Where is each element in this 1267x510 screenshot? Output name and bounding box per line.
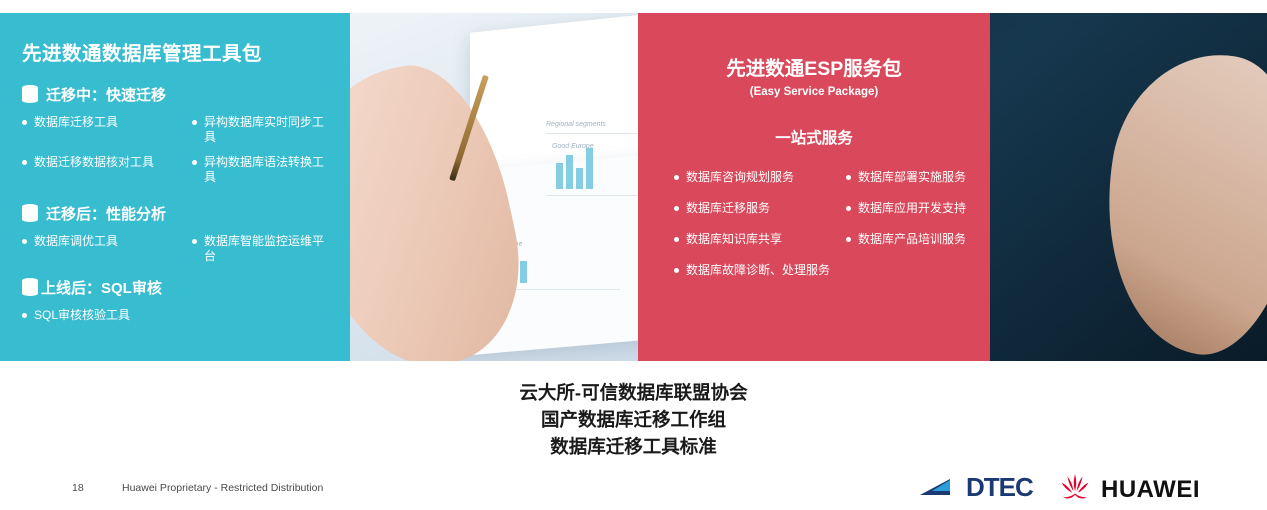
database-icon — [22, 278, 38, 297]
list-item-label: 数据库智能监控运维平台 — [204, 234, 334, 264]
bullet-dot-icon — [22, 120, 27, 125]
list-item: SQL审核核验工具 — [22, 308, 334, 323]
red-panel-title: 先进数通ESP服务包 — [656, 52, 972, 81]
dtec-logo-text: DTEC — [966, 472, 1033, 503]
list-item-label: 异构数据库实时同步工具 — [204, 115, 334, 145]
list-item-label: 数据库迁移工具 — [34, 115, 118, 130]
bullet-dot-icon — [846, 206, 851, 211]
list-item-label: 数据库知识库共享 — [686, 232, 782, 247]
caption-line-2: 国产数据库迁移工作组 — [0, 407, 1267, 434]
bullet-dot-icon — [674, 175, 679, 180]
left-section-2-bullets: 数据库调优工具 数据库智能监控运维平台 — [22, 234, 334, 264]
bullet-dot-icon — [192, 239, 197, 244]
list-item: 数据库智能监控运维平台 — [192, 234, 334, 264]
dtec-mark-icon — [920, 475, 964, 501]
bullet-dot-icon — [846, 237, 851, 242]
left-section-heading-3-label: 上线后：SQL审核 — [41, 277, 162, 298]
list-item: 数据库知识库共享 — [674, 232, 846, 247]
list-item-label: 异构数据库语法转换工具 — [204, 155, 334, 185]
bullet-dot-icon — [674, 237, 679, 242]
left-section-heading-3: 上线后：SQL审核 — [22, 277, 334, 298]
slide-caption: 云大所-可信数据库联盟协会 国产数据库迁移工作组 数据库迁移工具标准 — [0, 380, 1267, 460]
bullet-dot-icon — [674, 206, 679, 211]
left-section-heading-1: 迁移中：快速迁移 — [22, 84, 334, 105]
list-item: 数据库调优工具 — [22, 234, 192, 264]
bullet-dot-icon — [22, 160, 27, 165]
list-item: 数据库部署实施服务 — [846, 170, 972, 185]
slide-banner: 先进数通数据库管理工具包 迁移中：快速迁移 数据库迁移工具 异构数据库实时同步工… — [0, 13, 1267, 361]
chart-bar — [520, 261, 527, 283]
left-section-3-bullets: SQL审核核验工具 — [22, 308, 334, 323]
red-panel-subhead: 一站式服务 — [656, 126, 972, 148]
list-item-label: 数据库调优工具 — [34, 234, 118, 249]
left-teal-panel: 先进数通数据库管理工具包 迁移中：快速迁移 数据库迁移工具 异构数据库实时同步工… — [0, 13, 350, 361]
left-panel-title: 先进数通数据库管理工具包 — [22, 43, 334, 66]
list-item: 数据库产品培训服务 — [846, 232, 972, 247]
hand-shape — [1085, 40, 1267, 361]
list-item-label: 数据库应用开发支持 — [858, 201, 966, 216]
chart-bar — [566, 155, 573, 189]
list-item: 数据库应用开发支持 — [846, 201, 972, 216]
red-panel-subtitle: (Easy Service Package) — [656, 86, 972, 98]
list-item-label: 数据库产品培训服务 — [858, 232, 966, 247]
left-section-heading-2: 迁移后：性能分析 — [22, 203, 334, 224]
left-section-heading-1-label: 迁移中：快速迁移 — [46, 84, 166, 105]
dtec-logo: DTEC — [920, 472, 1033, 503]
list-item-label: 数据库迁移服务 — [686, 201, 770, 216]
list-item-label: 数据库故障诊断、处理服务 — [686, 263, 830, 278]
huawei-logo-text: HUAWEI — [1101, 476, 1200, 504]
bullet-dot-icon — [674, 268, 679, 273]
chart-bar — [586, 148, 593, 189]
red-panel-bullets: 数据库咨询规划服务 数据库部署实施服务 数据库迁移服务 数据库应用开发支持 数据… — [674, 170, 972, 278]
list-item-label: 数据库部署实施服务 — [858, 170, 966, 185]
huawei-logo: HUAWEI — [1058, 472, 1200, 507]
chart-rule — [546, 133, 638, 134]
chart-label-regional-segments: Regional segments — [546, 121, 606, 128]
huawei-flower-icon — [1058, 472, 1092, 507]
chart-bar — [576, 168, 583, 189]
right-red-panel: 先进数通ESP服务包 (Easy Service Package) 一站式服务 … — [638, 13, 990, 361]
middle-photo: Regional segments Good Europe West Europ… — [350, 13, 638, 361]
list-item: 数据库迁移工具 — [22, 115, 192, 145]
bullet-dot-icon — [192, 120, 197, 125]
bullet-dot-icon — [192, 160, 197, 165]
database-icon — [22, 85, 38, 104]
list-item-label: SQL审核核验工具 — [34, 308, 130, 323]
list-item: 数据迁移数据核对工具 — [22, 155, 192, 185]
list-item: 数据库迁移服务 — [674, 201, 846, 216]
bullet-dot-icon — [22, 313, 27, 318]
caption-line-3: 数据库迁移工具标准 — [0, 434, 1267, 461]
list-item-label: 数据迁移数据核对工具 — [34, 155, 154, 170]
page-number: 18 — [72, 482, 84, 494]
list-item: 数据库故障诊断、处理服务 — [674, 263, 972, 278]
database-icon — [22, 204, 38, 223]
chart-bar — [556, 163, 563, 189]
list-item: 异构数据库实时同步工具 — [192, 115, 334, 145]
list-item-label: 数据库咨询规划服务 — [686, 170, 794, 185]
bullet-dot-icon — [846, 175, 851, 180]
left-section-heading-2-label: 迁移后：性能分析 — [46, 203, 166, 224]
list-item: 异构数据库语法转换工具 — [192, 155, 334, 185]
caption-line-1: 云大所-可信数据库联盟协会 — [0, 380, 1267, 407]
left-section-1-bullets: 数据库迁移工具 异构数据库实时同步工具 数据迁移数据核对工具 异构数据库语法转换… — [22, 115, 334, 185]
chart-rule — [546, 195, 638, 196]
confidentiality-note: Huawei Proprietary - Restricted Distribu… — [122, 482, 323, 494]
bullet-dot-icon — [22, 239, 27, 244]
list-item: 数据库咨询规划服务 — [674, 170, 846, 185]
